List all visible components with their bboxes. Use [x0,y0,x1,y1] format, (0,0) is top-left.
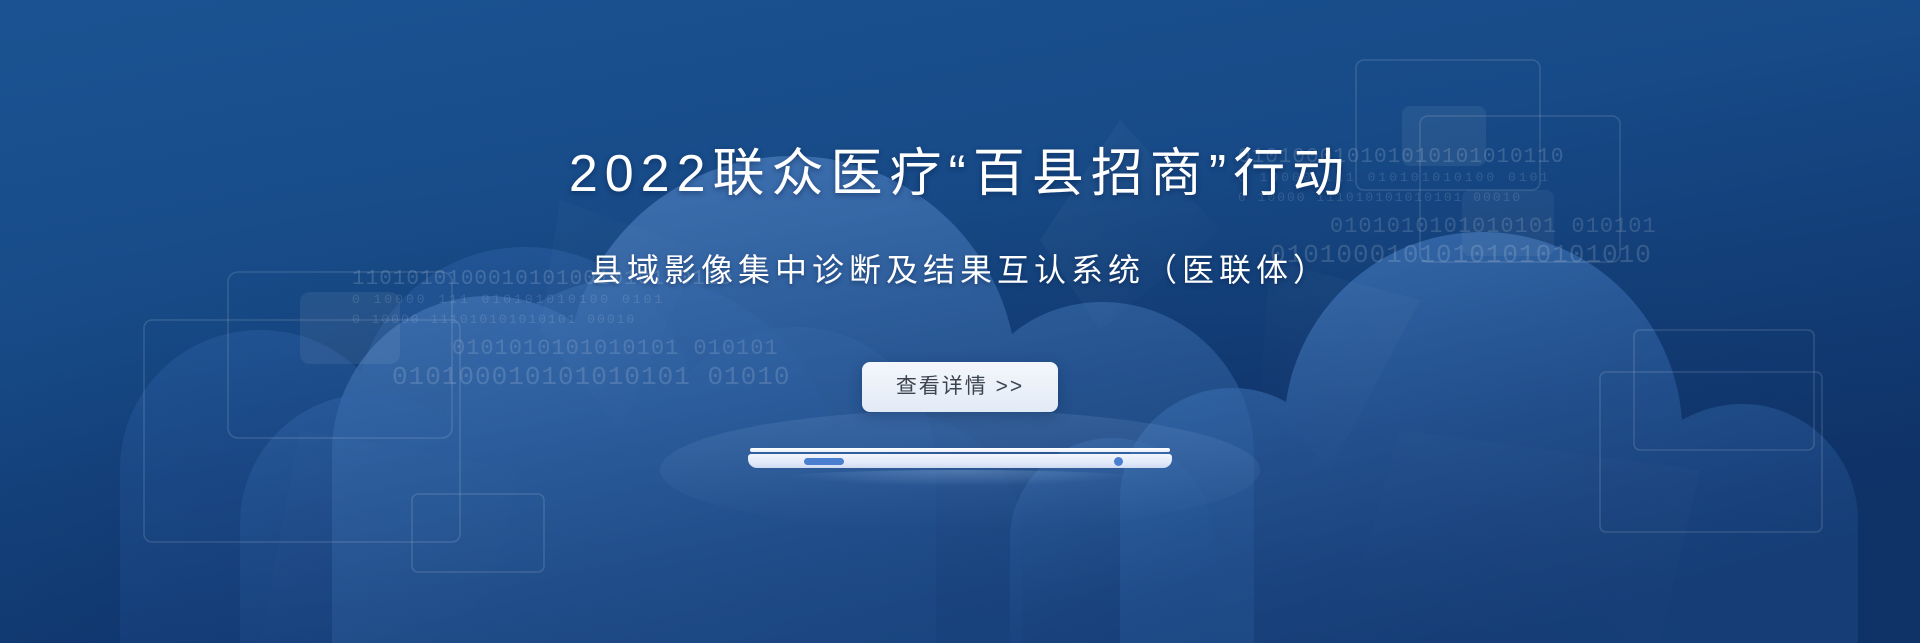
device-screen-edge [750,448,1170,452]
banner-subtitle: 县域影像集中诊断及结果互认系统（医联体） [0,249,1920,291]
cta-container: 查看详情 >> [0,362,1920,412]
device-reflection-glow [778,470,1142,486]
device-speaker-notch [804,458,844,465]
tablet-device-illustration [748,448,1172,472]
binary-decor-text: 0101010101010101 010101 [1330,214,1657,239]
banner-title: 2022联众医疗“百县招商”行动 [0,143,1920,205]
device-indicator-dot [1114,457,1123,466]
promo-banner: 11010101000101010010101 0110 0 10000 111… [0,0,1920,643]
view-details-button[interactable]: 查看详情 >> [862,362,1058,412]
binary-decor-text: 0 10000 111010101010101 00010 [352,312,636,327]
binary-decor-text: 0101010101010101 010101 [452,336,779,361]
binary-decor-text: 0 10000 111 010101010100 0101 [352,292,665,307]
